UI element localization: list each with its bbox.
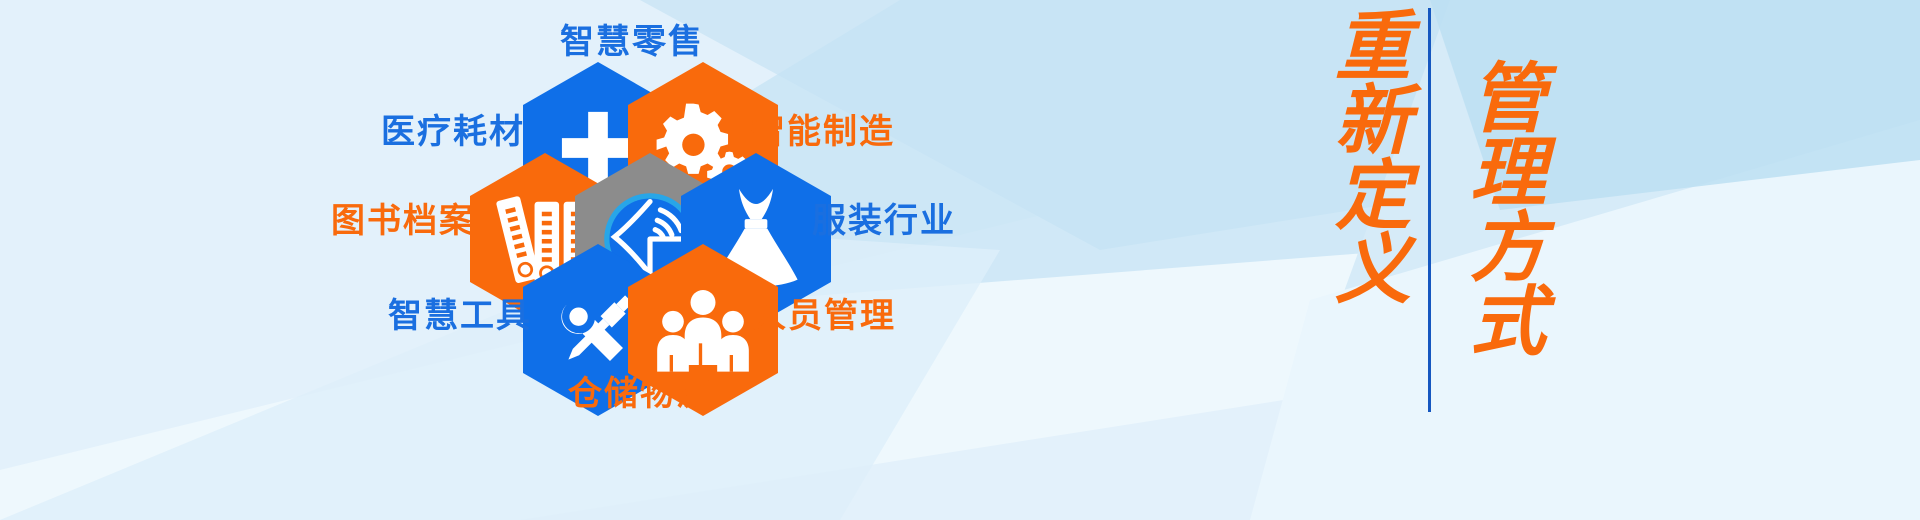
label-apparel: 服装行业 xyxy=(812,193,956,242)
calligraphy-block: 重 新 定 义 管 理 方 式 xyxy=(1290,0,1690,520)
calli-char-6: 理 xyxy=(1470,136,1546,210)
calligraphy-right-column: 管 理 方 式 xyxy=(1470,62,1546,360)
label-manufacturing: 智能制造 xyxy=(751,104,895,153)
calli-char-7: 方 xyxy=(1470,211,1546,285)
calli-char-8: 式 xyxy=(1470,285,1546,359)
calli-char-5: 管 xyxy=(1470,62,1546,136)
banner-root: 智慧零售 医疗耗材 智能制造 图书档案 服装行业 智慧工具 人员管理 仓储物流 … xyxy=(0,0,1920,520)
label-medical: 医疗耗材 xyxy=(381,104,525,153)
label-people: 人员管理 xyxy=(752,288,896,337)
label-logistics: 仓储物流 xyxy=(568,366,712,415)
calli-char-2: 新 xyxy=(1335,84,1411,158)
calli-char-3: 定 xyxy=(1335,159,1411,233)
label-tools: 智慧工具 xyxy=(388,288,532,337)
vertical-divider xyxy=(1428,8,1431,412)
calli-char-1: 重 xyxy=(1335,10,1411,84)
calli-char-4: 义 xyxy=(1335,233,1411,307)
calligraphy-left-column: 重 新 定 义 xyxy=(1335,10,1411,308)
label-retail: 智慧零售 xyxy=(560,14,704,63)
label-books: 图书档案 xyxy=(331,193,475,242)
